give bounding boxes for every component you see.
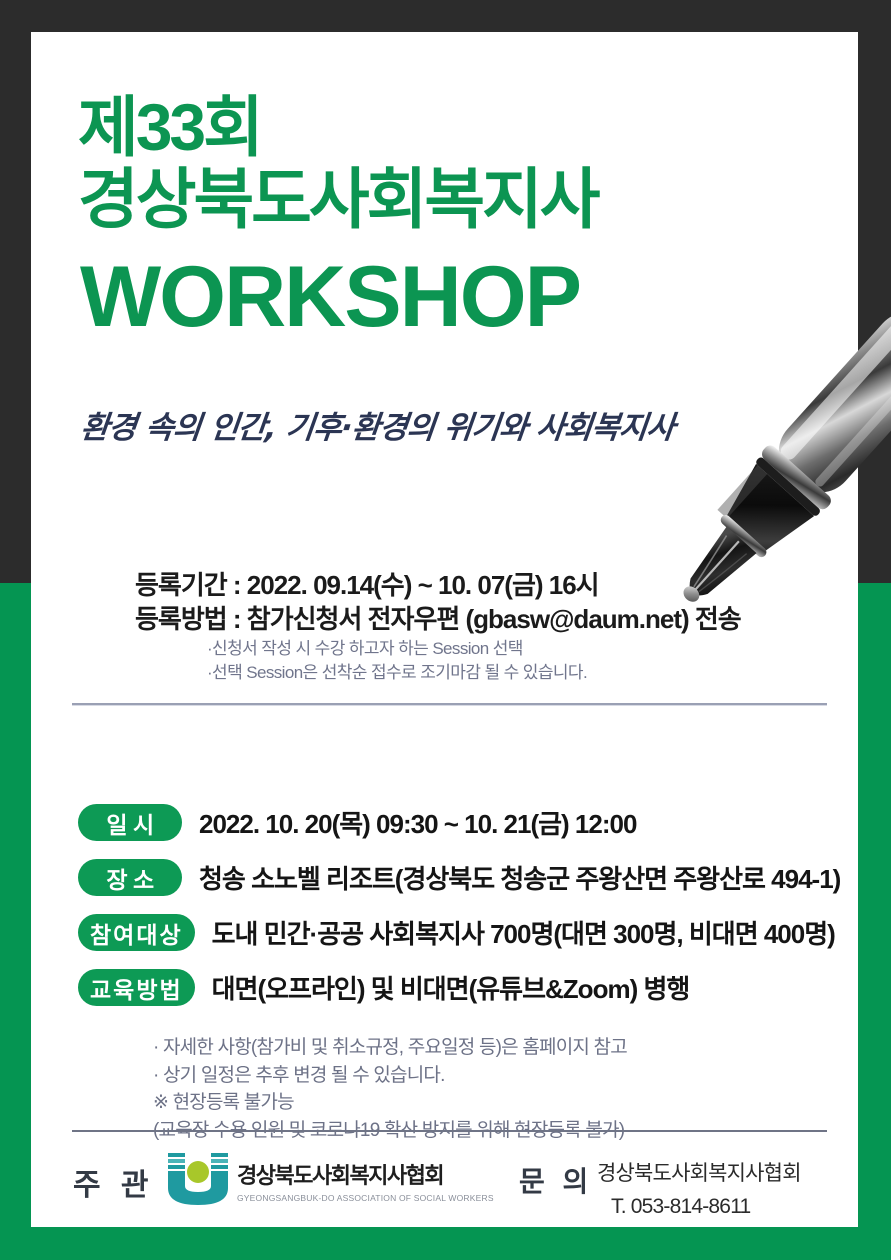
poster-background: 제33회 경상북도사회복지사 WORKSHOP 환경 속의 인간, 기후·환경의… — [0, 0, 891, 1260]
detail-value-datetime: 2022. 10. 20(목) 09:30 ~ 10. 21(금) 12:00 — [199, 804, 636, 841]
divider-bottom — [72, 1130, 827, 1132]
note-line-3: ※ 현장등록 불가능 — [153, 1089, 627, 1117]
registration-block: 등록기간 : 2022. 09.14(수) ~ 10. 07(금) 16시 등록… — [135, 568, 741, 686]
registration-note-2: ·선택 Session은 선착순 접수로 조기마감 될 수 있습니다. — [207, 661, 741, 686]
detail-row-audience: 참여대상 도내 민간·공공 사회복지사 700명(대면 300명, 비대면 40… — [78, 914, 840, 951]
registration-method: 등록방법 : 참가신청서 전자우편 (gbasw@daum.net) 전송 — [135, 602, 741, 636]
title-organization: 경상북도사회복지사 — [78, 166, 597, 232]
detail-label-venue: 장 소 — [78, 859, 182, 896]
details-list: 일 시 2022. 10. 20(목) 09:30 ~ 10. 21(금) 12… — [78, 804, 840, 1024]
detail-value-method: 대면(오프라인) 및 비대면(유튜브&Zoom) 병행 — [212, 969, 690, 1006]
poster-subtitle: 환경 속의 인간, 기후·환경의 위기와 사회복지사 — [79, 402, 677, 447]
detail-value-audience: 도내 민간·공공 사회복지사 700명(대면 300명, 비대면 400명) — [212, 914, 835, 951]
detail-row-datetime: 일 시 2022. 10. 20(목) 09:30 ~ 10. 21(금) 12… — [78, 804, 840, 841]
note-line-2: · 상기 일정은 추후 변경 될 수 있습니다. — [153, 1062, 627, 1090]
association-name-en: GYEONGSANGBUK-DO ASSOCIATION OF SOCIAL W… — [237, 1193, 494, 1203]
registration-note-1: ·신청서 작성 시 수강 하고자 하는 Session 선택 — [207, 637, 741, 662]
title-edition: 제33회 — [78, 94, 261, 160]
contact-details: 경상북도사회복지사협회 T. 053-814-8611 — [597, 1158, 801, 1223]
association-logo-text: 경상북도사회복지사협회 GYEONGSANGBUK-DO ASSOCIATION… — [237, 1158, 494, 1203]
detail-row-venue: 장 소 청송 소노벨 리조트(경상북도 청송군 주왕산면 주왕산로 494-1) — [78, 859, 840, 896]
registration-period: 등록기간 : 2022. 09.14(수) ~ 10. 07(금) 16시 — [135, 568, 741, 602]
poster-card: 제33회 경상북도사회복지사 WORKSHOP 환경 속의 인간, 기후·환경의… — [31, 32, 858, 1227]
detail-label-method: 교육방법 — [78, 969, 195, 1006]
contact-phone: T. 053-814-8611 — [611, 1191, 801, 1224]
detail-label-datetime: 일 시 — [78, 804, 182, 841]
divider-top — [72, 703, 827, 706]
notes-block: · 자세한 사항(참가비 및 취소규정, 주요일정 등)은 홈페이지 참고 · … — [153, 1034, 627, 1144]
detail-value-venue: 청송 소노벨 리조트(경상북도 청송군 주왕산면 주왕산로 494-1) — [199, 859, 840, 896]
note-line-1: · 자세한 사항(참가비 및 취소규정, 주요일정 등)은 홈페이지 참고 — [153, 1034, 627, 1062]
association-name-kr: 경상북도사회복지사협회 — [237, 1158, 494, 1190]
detail-row-method: 교육방법 대면(오프라인) 및 비대면(유튜브&Zoom) 병행 — [78, 969, 840, 1006]
association-logo-icon — [167, 1152, 229, 1206]
title-workshop: WORKSHOP — [80, 254, 580, 340]
poster-footer: 주 관 경상북도사회복지사협회 GYEONGSANGBUK-DO ASSOCIA… — [31, 1144, 858, 1224]
contact-label: 문 의 — [519, 1160, 593, 1200]
detail-label-audience: 참여대상 — [78, 914, 195, 951]
contact-organization: 경상북도사회복지사협회 — [597, 1158, 801, 1191]
host-label: 주 관 — [73, 1160, 155, 1204]
